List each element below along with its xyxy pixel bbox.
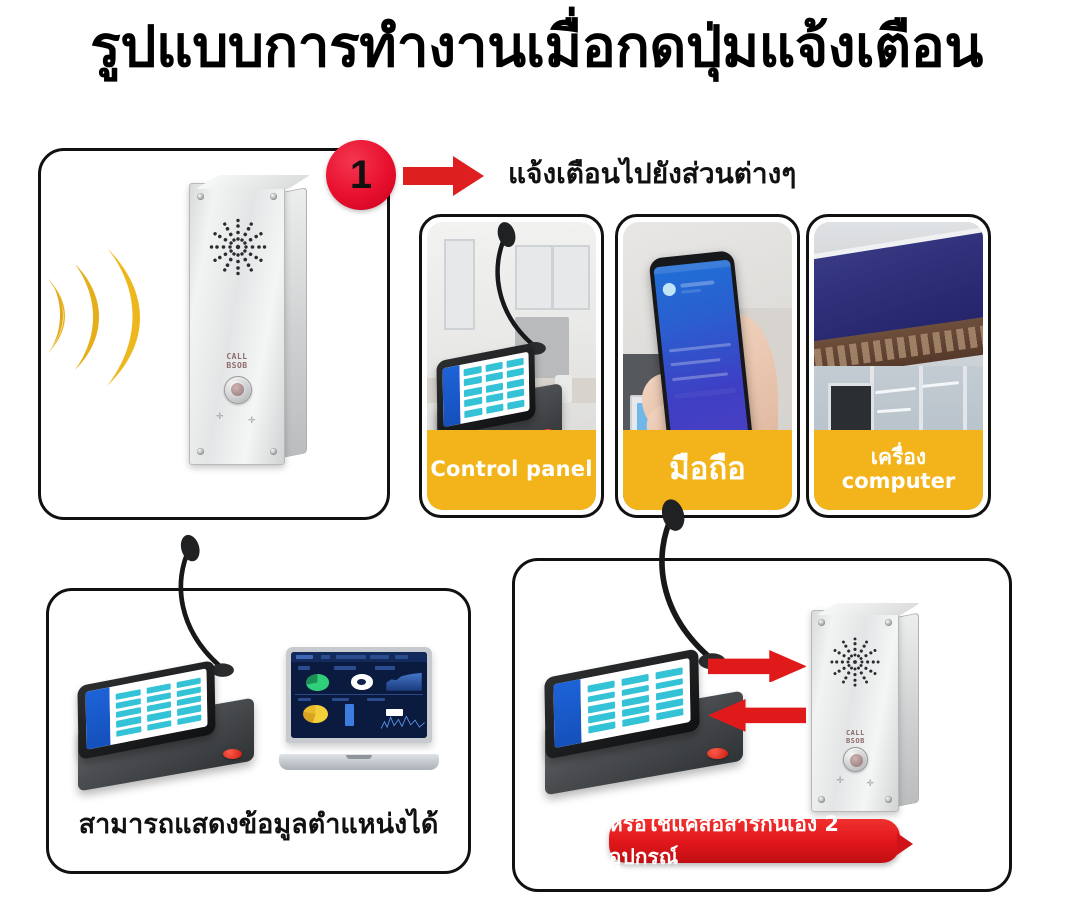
screw-icon [270,193,277,200]
sound-wave-icon [45,226,165,386]
location-info-panel: สามารถแสดงข้อมูลตำแหน่งได้ [46,588,471,874]
emergency-call-button[interactable] [224,376,252,404]
screw-icon [818,619,825,626]
destination-label-mobile: มือถือ [623,430,792,510]
gooseneck-mic-icon [485,225,560,363]
source-device-panel: CALL BSOB ✛ ✛ [38,148,390,520]
alert-destination-note: แจ้งเตือนไปยังส่วนต่างๆ [508,152,796,196]
arrow-left-icon [708,699,807,732]
destination-label-computer-line2: computer [842,469,955,493]
laptop-icon [279,647,438,770]
intercom-label-line2: BSOB [226,361,247,370]
blue-bar-chart [345,704,353,726]
destination-card-computer[interactable]: เครื่อง computer [806,214,991,518]
emergency-intercom-call-box: CALL BSOB ✛ ✛ [811,610,921,810]
emergency-intercom-call-box: CALL BSOB ✛ ✛ [189,183,309,463]
screw-icon [885,796,892,803]
location-caption: สามารถแสดงข้อมูลตำแหน่งได้ [49,802,468,845]
intercom-label-line2: BSOB [846,737,865,745]
intercom-side-face [282,187,307,458]
two-way-communication-panel: CALL BSOB ✛ ✛ หรือใช้แค่สือสารกันเอง 2 อ… [512,558,1012,892]
destination-label-control-panel: Control panel [427,430,596,510]
screw-icon [885,619,892,626]
destination-card-mobile[interactable]: มือถือ [615,214,800,518]
step-1-badge: 1 [326,140,396,210]
console-alert-button[interactable] [707,748,729,759]
microphone-hole-icon: ✛ [836,776,845,785]
intercom-label-line1: CALL [846,729,865,737]
screw-icon [197,448,204,455]
yellow-pie-chart [303,705,328,723]
intercom-label-line1: CALL [226,352,247,361]
white-donut-chart [351,674,373,689]
emergency-call-button[interactable] [843,747,868,772]
dashboard-screen [291,652,427,738]
microphone-hole-icon: ✛ [216,412,225,421]
microphone-hole-icon: ✛ [866,779,875,788]
microphone-hole-icon: ✛ [248,416,257,425]
intercom-top-face [196,175,310,189]
intercom-call-label: CALL BSOB [812,729,898,745]
area-chart [386,672,421,691]
two-way-flag-caption: หรือใช้แค่สือสารกันเอง 2 อุปกรณ์ [609,819,900,863]
intercom-call-label: CALL BSOB [190,352,284,370]
destination-label-computer: เครื่อง computer [814,430,983,510]
destination-label-computer-line1: เครื่อง [871,445,926,469]
desk-microphone-console [78,664,254,776]
speaker-grille-icon [828,635,882,689]
arrow-right-icon [708,650,807,683]
sparkline-chart [381,714,425,729]
speaker-grille-icon [207,216,269,278]
arrow-right-icon [403,155,485,197]
green-pie-chart [306,674,329,690]
screw-icon [270,448,277,455]
screw-icon [818,796,825,803]
intercom-front-face: CALL BSOB ✛ ✛ [189,183,285,465]
destination-card-control-panel[interactable]: Control panel [419,214,604,518]
screw-icon [197,193,204,200]
infographic-canvas: รูปแบบการทำงานเมื่อกดปุ่มแจ้งเตือน [0,0,1073,911]
console-alert-button[interactable] [223,749,242,759]
page-title: รูปแบบการทำงานเมื่อกดปุ่มแจ้งเตือน [0,14,1073,80]
